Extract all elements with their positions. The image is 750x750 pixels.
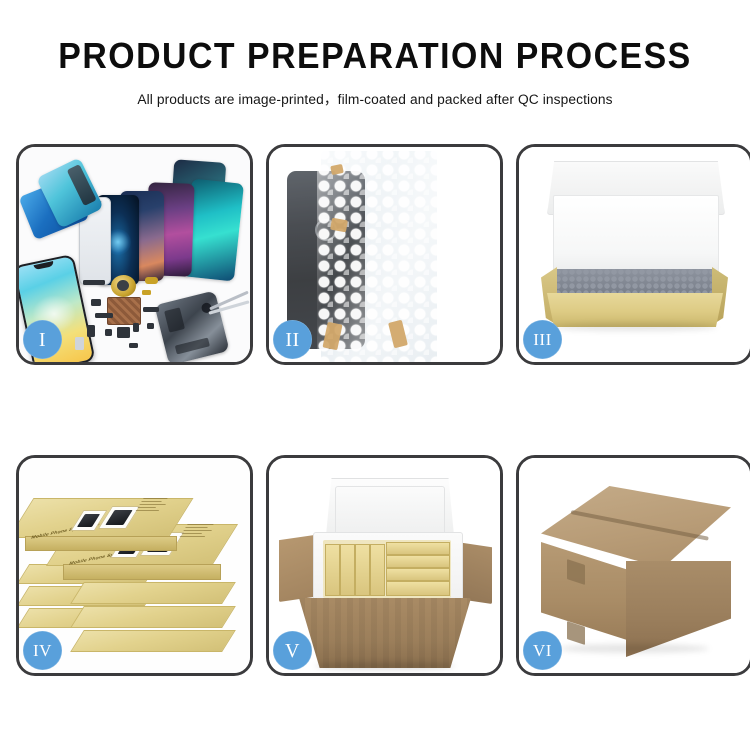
tweezers-icon <box>208 289 250 319</box>
logic-board <box>107 297 141 325</box>
small-part-1 <box>83 280 105 285</box>
step-panel-5[interactable]: V <box>266 455 503 676</box>
carton-front-panel <box>299 598 471 668</box>
stacked-box-right-3 <box>77 630 227 650</box>
step-badge-3: III <box>523 320 562 359</box>
step-panel-4[interactable]: Mobile Phone Spare Parts <box>16 455 253 676</box>
step-badge-2: II <box>273 320 312 359</box>
step-panel-2[interactable]: II <box>266 144 503 365</box>
drop-shadow <box>315 662 455 670</box>
box-front-panel <box>547 293 723 327</box>
step-badge-5: V <box>273 631 312 670</box>
small-part-11 <box>147 323 154 329</box>
small-part-4 <box>91 299 101 306</box>
small-part-2 <box>145 277 158 284</box>
camera-module <box>164 307 185 332</box>
small-part-10 <box>143 307 159 312</box>
carton-left-face <box>541 542 627 640</box>
white-foam-liner <box>553 195 719 279</box>
speaker-coil <box>111 275 136 297</box>
step-badge-1: I <box>23 320 62 359</box>
product-preparation-infographic: PRODUCT PREPARATION PROCESS All products… <box>0 0 750 750</box>
tape-piece-2 <box>330 218 348 233</box>
step-badge-4: IV <box>23 631 62 670</box>
small-part-8 <box>117 327 130 338</box>
stacked-box-right-1 <box>77 582 227 602</box>
step-panel-3[interactable]: III <box>516 144 750 365</box>
steps-grid: I II <box>0 0 750 750</box>
small-part-7 <box>105 329 112 336</box>
packed-boxes-inside <box>323 540 451 598</box>
step-panel-6[interactable]: VI <box>516 455 750 676</box>
battery-slot <box>175 337 210 354</box>
stacked-box-right-2 <box>77 606 227 626</box>
drop-shadow <box>559 644 709 653</box>
small-part-6 <box>87 325 95 337</box>
small-part-3 <box>142 290 151 295</box>
small-part-9 <box>133 323 139 332</box>
grey-foam-padding <box>555 269 715 297</box>
step-badge-6: VI <box>523 631 562 670</box>
small-part-12 <box>129 343 138 348</box>
sim-tray <box>75 337 84 350</box>
carton-right-face <box>626 561 731 657</box>
small-part-5 <box>95 313 113 318</box>
step-panel-1[interactable]: I <box>16 144 253 365</box>
drop-shadow <box>553 323 717 331</box>
